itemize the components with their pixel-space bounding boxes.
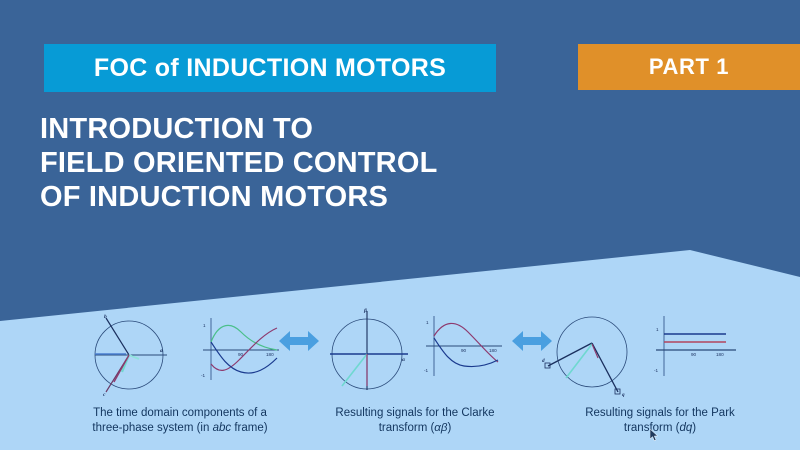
- caption-park-line-1: Resulting signals for the Park: [545, 406, 775, 421]
- transform-arrow-1-icon: [279, 328, 319, 359]
- mouse-cursor-icon: [650, 429, 660, 442]
- part-badge: PART 1: [578, 44, 800, 90]
- caption-abc-line-2-pre: three-phase system (in: [92, 422, 212, 434]
- caption-clarke-line-1: Resulting signals for the Clarke: [300, 406, 530, 421]
- figure-clarke-phasor: β α: [322, 306, 414, 403]
- caption-park-line-2-post: ): [692, 422, 696, 434]
- caption-clarke-line-2: transform (αβ): [300, 421, 530, 436]
- figure-abc-phasor: a b c: [86, 312, 172, 403]
- svg-text:c: c: [103, 392, 106, 398]
- svg-text:1: 1: [203, 323, 206, 328]
- svg-text:b: b: [104, 314, 107, 320]
- figure-clarke-waveform: 1 -1 90 180: [420, 314, 506, 389]
- figure-abc-waveform: 1 -1 90 180: [197, 316, 283, 391]
- svg-text:90: 90: [461, 348, 467, 353]
- title-banner: FOC of INDUCTION MOTORS: [44, 44, 496, 92]
- caption-park: Resulting signals for the Park transform…: [545, 406, 775, 436]
- page-title: INTRODUCTION TO FIELD ORIENTED CONTROL O…: [40, 112, 438, 214]
- figure-row: a b c 1 -1 90 180: [0, 296, 800, 406]
- slide-canvas: FOC of INDUCTION MOTORS PART 1 INTRODUCT…: [0, 0, 800, 450]
- caption-clarke-frame: αβ: [434, 422, 447, 434]
- caption-abc-line-1: The time domain components of a: [48, 406, 312, 421]
- caption-abc-line-2: three-phase system (in abc frame): [48, 421, 312, 436]
- svg-text:a: a: [160, 348, 163, 354]
- page-title-line-2: FIELD ORIENTED CONTROL: [40, 146, 438, 180]
- caption-abc-frame: abc: [213, 422, 232, 434]
- part-badge-label: PART 1: [649, 54, 729, 80]
- svg-text:180: 180: [266, 352, 274, 357]
- svg-text:1: 1: [656, 327, 659, 332]
- svg-text:β: β: [363, 308, 367, 314]
- svg-text:180: 180: [716, 352, 724, 357]
- svg-text:90: 90: [691, 352, 697, 357]
- caption-clarke: Resulting signals for the Clarke transfo…: [300, 406, 530, 436]
- title-banner-label: FOC of INDUCTION MOTORS: [94, 54, 446, 83]
- svg-text:q: q: [622, 392, 625, 398]
- caption-abc: The time domain components of a three-ph…: [48, 406, 312, 436]
- figure-park-waveform: 1 -1 90 180: [650, 314, 750, 389]
- svg-text:1: 1: [426, 320, 429, 325]
- caption-abc-line-2-post: frame): [231, 422, 267, 434]
- caption-park-frame: dq: [679, 422, 692, 434]
- caption-clarke-line-2-post: ): [447, 422, 451, 434]
- caption-clarke-line-2-pre: transform (: [379, 422, 435, 434]
- svg-text:180: 180: [489, 348, 497, 353]
- svg-text:-1: -1: [654, 368, 659, 373]
- svg-text:-1: -1: [424, 368, 429, 373]
- svg-text:d: d: [542, 358, 545, 364]
- caption-park-line-2: transform (dq): [545, 421, 775, 436]
- svg-text:-1: -1: [201, 373, 206, 378]
- page-title-line-1: INTRODUCTION TO: [40, 112, 438, 146]
- page-title-line-3: OF INDUCTION MOTORS: [40, 180, 438, 214]
- figure-park-phasor: d q: [540, 306, 640, 407]
- svg-text:α: α: [402, 357, 406, 363]
